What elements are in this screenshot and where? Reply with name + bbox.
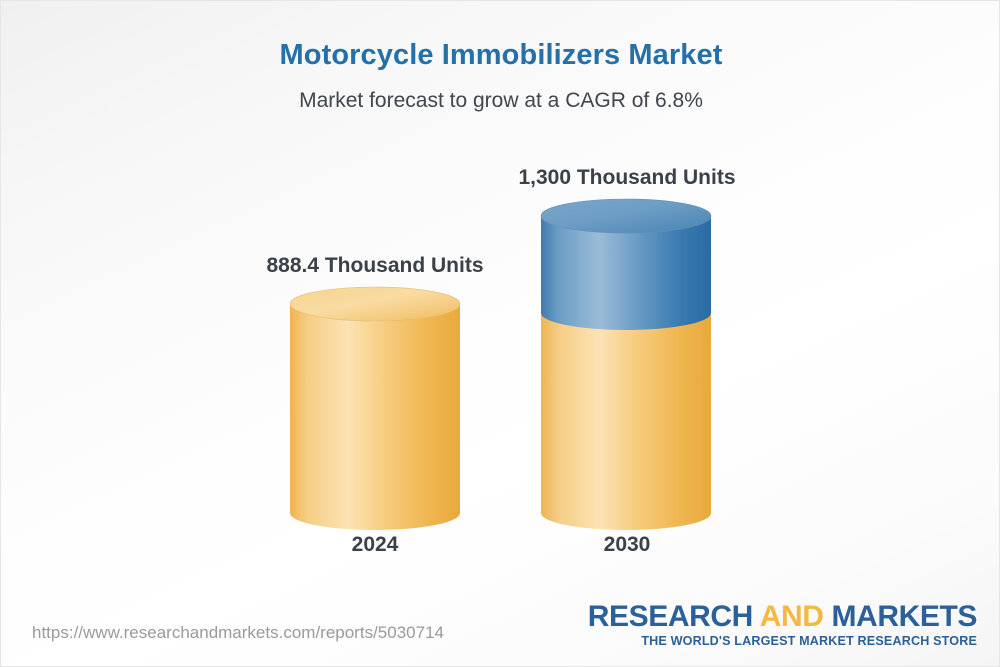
bar-cylinder-2024 — [281, 283, 481, 533]
chart-canvas: Motorcycle Immobilizers Market Market fo… — [0, 0, 1000, 667]
report-url[interactable]: https://www.researchandmarkets.com/repor… — [32, 623, 444, 643]
bar-top-cap-2024 — [290, 287, 460, 321]
logo-word-markets: MARKETS — [831, 600, 977, 633]
plot-area: 888.4 Thousand Units 1,300 Thousand Unit… — [1, 1, 1000, 601]
bar-cylinder-2030-svg — [532, 195, 732, 535]
bar-cylinder-2030 — [532, 195, 732, 535]
value-label-2030: 1,300 Thousand Units — [437, 166, 817, 190]
brand-logo[interactable]: RESEARCH AND MARKETS THE WORLD'S LARGEST… — [588, 601, 977, 648]
bar-top-cap-2030 — [541, 199, 711, 233]
bar-body-2024 — [290, 304, 460, 530]
category-label-2030: 2030 — [537, 533, 717, 557]
bar-segment-base-2030 — [541, 305, 711, 530]
logo-wordmark: RESEARCH AND MARKETS — [588, 601, 977, 632]
logo-tagline: THE WORLD'S LARGEST MARKET RESEARCH STOR… — [588, 634, 977, 648]
logo-word-research: RESEARCH — [588, 600, 753, 633]
bar-cylinder-2024-svg — [281, 283, 481, 533]
logo-word-and: AND — [753, 600, 832, 633]
category-label-2024: 2024 — [285, 533, 465, 557]
value-label-2024: 888.4 Thousand Units — [185, 254, 565, 278]
